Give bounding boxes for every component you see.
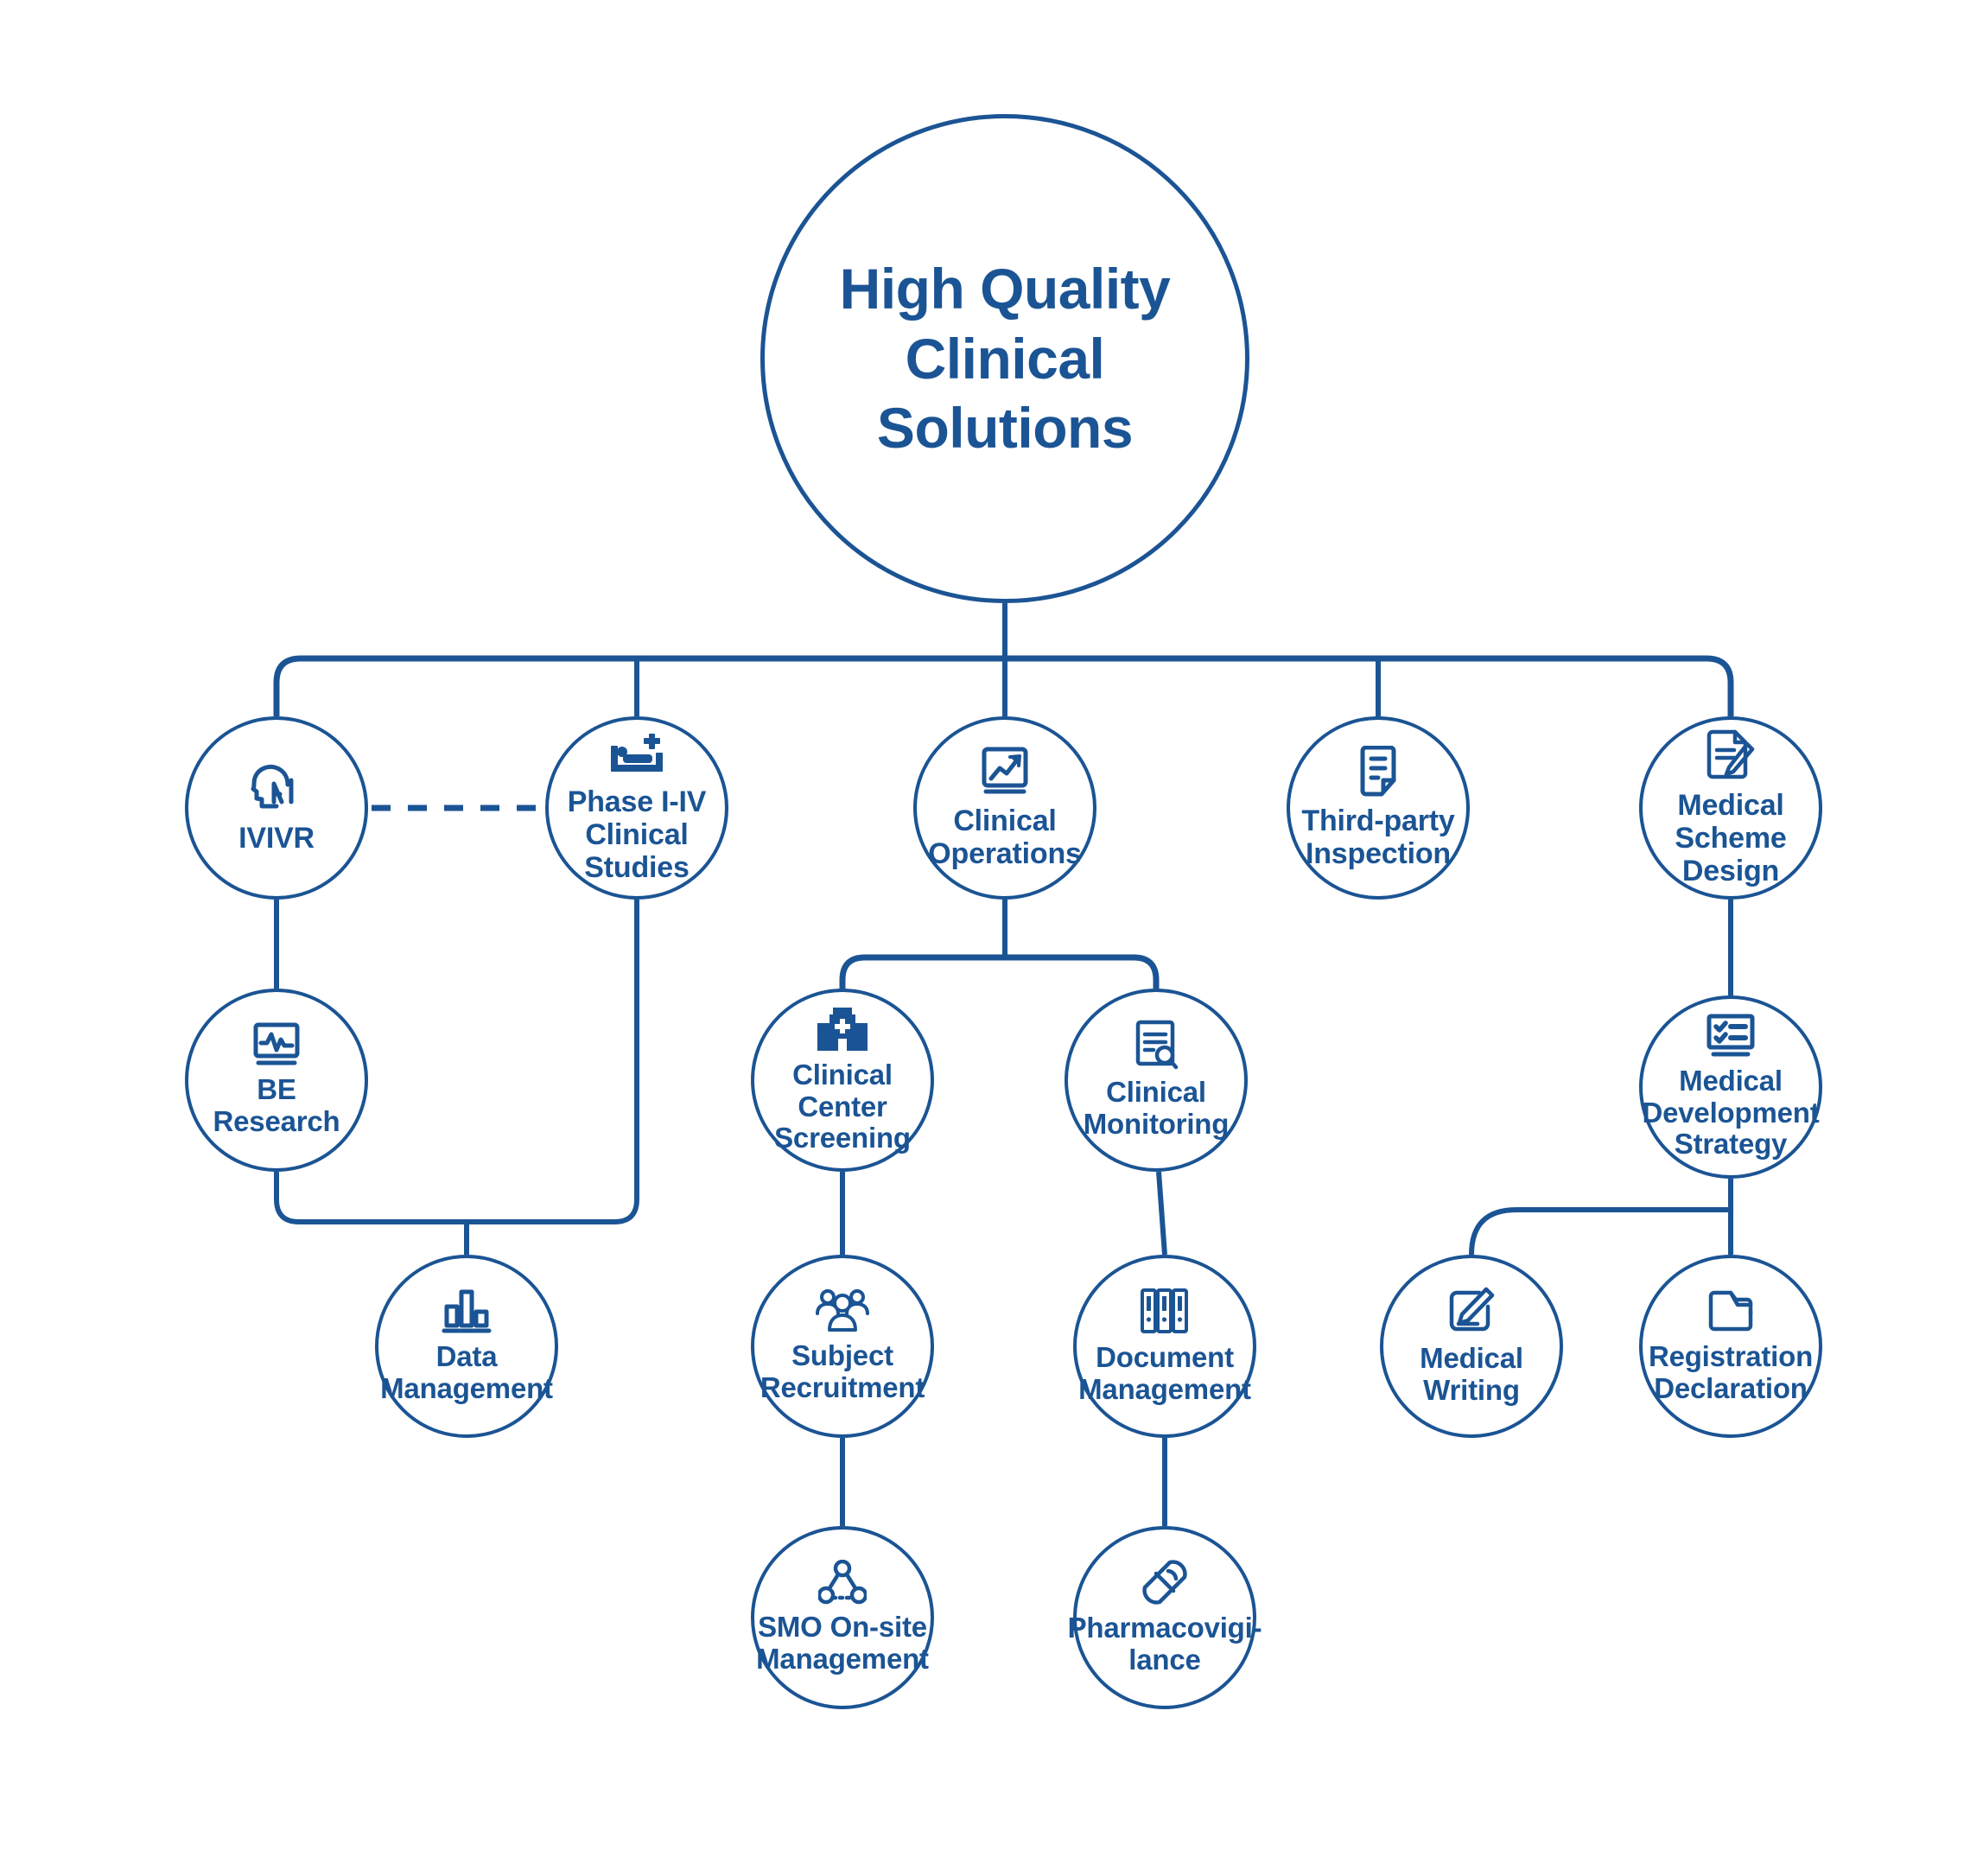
growth-chart-icon bbox=[979, 746, 1031, 798]
node-label: Clinical Center Screening bbox=[754, 1059, 931, 1155]
node-label: BE Research bbox=[208, 1074, 346, 1138]
node-label: SMO On-site Management bbox=[751, 1612, 934, 1676]
connector-be-research-to-data-bus bbox=[276, 1172, 467, 1222]
node-pharmacovigilance[interactable]: Pharmacovigi- lance bbox=[1073, 1526, 1256, 1709]
ecg-monitor-icon bbox=[251, 1022, 302, 1067]
connector-phase-to-data-bus bbox=[467, 900, 637, 1222]
document-pen-icon bbox=[1706, 728, 1756, 782]
pen-note-icon bbox=[1446, 1286, 1497, 1336]
connector-level1-bus bbox=[276, 658, 1731, 716]
node-subject-recruitment[interactable]: Subject Recruitment bbox=[751, 1255, 934, 1438]
binders-icon bbox=[1140, 1287, 1190, 1335]
capsule-icon bbox=[1141, 1559, 1188, 1606]
node-label: Subject Recruitment bbox=[755, 1340, 930, 1404]
node-clinical-monitoring[interactable]: Clinical Monitoring bbox=[1065, 989, 1248, 1172]
node-label: Medical Scheme Design bbox=[1669, 789, 1791, 887]
node-label: Third-party Inspection bbox=[1296, 804, 1459, 870]
people-group-icon bbox=[816, 1288, 869, 1333]
node-label: Document Management bbox=[1073, 1342, 1256, 1406]
node-third-party-inspection[interactable]: Third-party Inspection bbox=[1287, 716, 1470, 900]
node-label: Data Management bbox=[375, 1341, 558, 1405]
node-document-management[interactable]: Document Management bbox=[1073, 1255, 1256, 1438]
connector-monitoring-to-document bbox=[1159, 1172, 1165, 1255]
bar-chart-icon bbox=[442, 1288, 492, 1334]
node-medical-development-strategy[interactable]: Medical Development Strategy bbox=[1639, 995, 1822, 1179]
connector-strategy-to-medical-writing bbox=[1471, 1210, 1731, 1255]
node-smo-on-site-management[interactable]: SMO On-site Management bbox=[751, 1526, 934, 1709]
hospital-building-icon bbox=[816, 1006, 869, 1052]
connector-clinops-bus bbox=[842, 957, 1156, 992]
node-label: Phase I-IV Clinical Studies bbox=[562, 785, 712, 884]
node-phase-i-iv-clinical-studies[interactable]: Phase I-IV Clinical Studies bbox=[545, 716, 728, 900]
folder-icon bbox=[1707, 1288, 1755, 1334]
document-search-icon bbox=[1134, 1020, 1179, 1070]
org-diagram-canvas: High Quality Clinical Solutions IVIVR bbox=[0, 0, 1983, 1876]
node-label: High Quality Clinical Solutions bbox=[835, 254, 1176, 463]
node-ivivr[interactable]: IVIVR bbox=[185, 716, 368, 900]
node-label: Pharmacovigi- lance bbox=[1063, 1612, 1268, 1676]
node-label: Clinical Monitoring bbox=[1078, 1077, 1234, 1141]
document-lines-icon bbox=[1357, 746, 1399, 798]
network-nodes-icon bbox=[818, 1560, 867, 1605]
node-clinical-operations[interactable]: Clinical Operations bbox=[913, 716, 1096, 900]
node-registration-declaration[interactable]: Registration Declaration bbox=[1639, 1255, 1822, 1438]
node-data-management[interactable]: Data Management bbox=[375, 1255, 558, 1438]
node-medical-scheme-design[interactable]: Medical Scheme Design bbox=[1639, 716, 1822, 900]
node-label: IVIVR bbox=[233, 822, 320, 855]
node-medical-writing[interactable]: Medical Writing bbox=[1380, 1255, 1563, 1438]
node-label: Clinical Operations bbox=[923, 804, 1086, 870]
node-high-quality-clinical-solutions[interactable]: High Quality Clinical Solutions bbox=[760, 114, 1249, 603]
node-label: Registration Declaration bbox=[1643, 1341, 1818, 1405]
hospital-bed-icon bbox=[609, 732, 664, 779]
node-label: Medical Writing bbox=[1414, 1343, 1529, 1407]
node-label: Medical Development Strategy bbox=[1637, 1065, 1824, 1161]
node-be-research[interactable]: BE Research bbox=[185, 989, 368, 1172]
checklist-monitor-icon bbox=[1705, 1014, 1757, 1059]
ai-head-icon bbox=[248, 761, 305, 815]
node-clinical-center-screening[interactable]: Clinical Center Screening bbox=[751, 989, 934, 1172]
